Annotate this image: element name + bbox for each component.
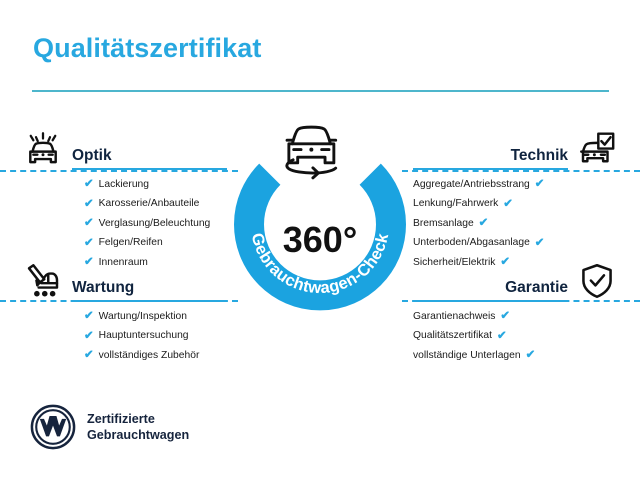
check-icon: ✔: [497, 331, 507, 343]
footer-brand: Zertifizierte Gebrauchtwagen: [30, 404, 189, 450]
check-icon: ✔: [526, 350, 536, 362]
badge-center-label: 360°: [283, 219, 357, 260]
list-item: ✔ Unterboden/Abgasanlage: [413, 238, 556, 250]
footer-line-1: Zertifizierte: [87, 411, 189, 427]
list-item-label: vollständiges Zubehör: [99, 351, 200, 361]
list-item: ✔ Bremsanlage: [413, 218, 556, 230]
list-item-label: Bremsanlage: [413, 219, 474, 229]
list-item-label: Lenkung/Fahrwerk: [413, 199, 498, 209]
page-title: Qualitätszertifikat: [33, 33, 261, 64]
section-underline-technik: [413, 168, 568, 170]
section-garantie: Garantie ✔ Garantienachweis ✔ Qualitätsz…: [413, 260, 618, 370]
section-optik: Optik ✔ Lackierung ✔ Karosserie/Anbautei…: [22, 128, 227, 277]
section-underline-garantie: [413, 300, 568, 302]
section-title-wartung: Wartung: [72, 280, 227, 296]
list-item: ✔ Lackierung: [84, 179, 227, 191]
car-shine-icon: [22, 128, 64, 170]
checklist-optik: ✔ Lackierung ✔ Karosserie/Anbauteile ✔ V…: [22, 179, 227, 269]
list-item-label: Qualitätszertifikat: [413, 331, 492, 341]
list-item: ✔ Karosserie/Anbauteile: [84, 199, 227, 211]
checklist-garantie: ✔ Garantienachweis ✔ Qualitätszertifikat…: [413, 311, 618, 362]
badge-graphic: Gebrauchtwagen-Check 360°: [222, 112, 418, 312]
certificate-page: Qualitätszertifikat Optik: [0, 0, 640, 480]
list-item-label: Karosserie/Anbauteile: [99, 199, 200, 209]
check-icon: ✔: [503, 199, 513, 211]
list-item-label: Verglasung/Beleuchtung: [99, 219, 211, 229]
list-item: ✔ Qualitätszertifikat: [413, 331, 556, 343]
section-header-optik: Optik: [22, 128, 227, 170]
360-check-badge: Gebrauchtwagen-Check 360°: [222, 112, 418, 312]
list-item-label: Hauptuntersuchung: [99, 331, 189, 341]
check-icon: ✔: [84, 218, 94, 230]
footer-line-2: Gebrauchtwagen: [87, 427, 189, 443]
list-item-label: Felgen/Reifen: [99, 238, 163, 248]
list-item: ✔ vollständige Unterlagen: [413, 350, 556, 362]
footer-text: Zertifizierte Gebrauchtwagen: [87, 411, 189, 443]
check-icon: ✔: [84, 179, 94, 191]
list-item: ✔ Wartung/Inspektion: [84, 311, 227, 323]
section-technik: Technik ✔ Aggregate/Antriebsstrang ✔ Len…: [413, 128, 618, 277]
shield-check-icon: [576, 260, 618, 302]
list-item-label: Aggregate/Antriebsstrang: [413, 180, 530, 190]
list-item: ✔ Lenkung/Fahrwerk: [413, 199, 556, 211]
check-icon: ✔: [84, 311, 94, 323]
list-item: ✔ Aggregate/Antriebsstrang: [413, 179, 556, 191]
section-heading-block-optik: Optik: [72, 148, 227, 170]
check-icon: ✔: [84, 199, 94, 211]
car-service-pen-icon: [22, 260, 64, 302]
list-item: ✔ Felgen/Reifen: [84, 238, 227, 250]
list-item-label: Unterboden/Abgasanlage: [413, 238, 530, 248]
section-heading-block-wartung: Wartung: [72, 280, 227, 302]
section-header-garantie: Garantie: [413, 260, 618, 302]
list-item-label: Wartung/Inspektion: [99, 312, 187, 322]
title-divider: [32, 90, 609, 92]
list-item-label: Lackierung: [99, 180, 149, 190]
check-icon: ✔: [535, 238, 545, 250]
list-item: ✔ Garantienachweis: [413, 311, 556, 323]
section-header-wartung: Wartung: [22, 260, 227, 302]
section-heading-block-technik: Technik: [413, 148, 568, 170]
list-item-label: Garantienachweis: [413, 312, 495, 322]
section-wartung: Wartung ✔ Wartung/Inspektion ✔ Hauptunte…: [22, 260, 227, 370]
section-title-garantie: Garantie: [413, 280, 568, 296]
check-icon: ✔: [84, 238, 94, 250]
section-header-technik: Technik: [413, 128, 618, 170]
list-item: ✔ vollständiges Zubehör: [84, 350, 227, 362]
checklist-wartung: ✔ Wartung/Inspektion ✔ Hauptuntersuchung…: [22, 311, 227, 362]
section-underline-optik: [72, 168, 227, 170]
check-icon: ✔: [535, 179, 545, 191]
section-title-optik: Optik: [72, 148, 227, 164]
section-underline-wartung: [72, 300, 227, 302]
section-title-technik: Technik: [413, 148, 568, 164]
vw-logo-icon: [30, 404, 76, 450]
car-checkbox-icon: [576, 128, 618, 170]
section-heading-block-garantie: Garantie: [413, 280, 568, 302]
list-item: ✔ Verglasung/Beleuchtung: [84, 218, 227, 230]
checklist-technik: ✔ Aggregate/Antriebsstrang ✔ Lenkung/Fah…: [413, 179, 618, 269]
list-item-label: vollständige Unterlagen: [413, 351, 521, 361]
list-item: ✔ Hauptuntersuchung: [84, 331, 227, 343]
check-icon: ✔: [84, 350, 94, 362]
check-icon: ✔: [84, 331, 94, 343]
check-icon: ✔: [479, 218, 489, 230]
check-icon: ✔: [500, 311, 510, 323]
